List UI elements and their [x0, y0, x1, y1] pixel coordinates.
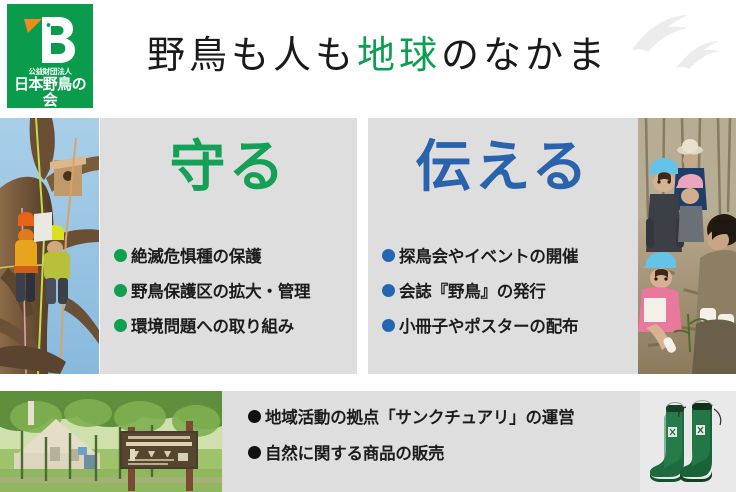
title-accent-earth: 地球: [357, 24, 441, 79]
tree-climbers-nest-box-photo: [0, 118, 99, 374]
sanctuary-nature-center-photo: [0, 391, 222, 492]
list-item-label: 探鳥会やイベントの開催: [399, 243, 578, 267]
bullet-dot-icon: [248, 446, 261, 459]
bullet-dot-icon: [382, 284, 395, 297]
panel-communicate-heading: 伝える: [368, 140, 638, 196]
bottom-section: 地域活動の拠点「サンクチュアリ」の運営 自然に関する商品の販売: [0, 391, 736, 492]
title-segment-2: のなかま: [441, 24, 609, 79]
list-item: 自然に関する商品の販売: [248, 440, 648, 464]
list-item-label: 地域活動の拠点「サンクチュアリ」の運営: [265, 404, 574, 428]
bullet-dot-icon: [248, 410, 261, 423]
activities-section: 守る 絶滅危惧種の保護 野鳥保護区の拡大・管理 環境問題への取り組み 伝える: [0, 118, 736, 374]
bullet-dot-icon: [114, 284, 127, 297]
list-item-label: 絶滅危惧種の保護: [131, 243, 261, 267]
poster-root: 公益財団法人 日本野鳥の会 Wild Bird Society of Japan…: [0, 0, 736, 492]
list-item: 野鳥保護区の拡大・管理: [114, 278, 351, 302]
swallow-silhouettes-icon: [630, 4, 730, 70]
list-item-label: 環境問題への取り組み: [131, 313, 294, 337]
page-title: 野鳥も人も地球のなかま: [128, 22, 628, 80]
bird-b-logo-icon: [20, 13, 80, 65]
list-item: 会誌『野鳥』の発行: [382, 278, 632, 302]
logo-line-corporate: 公益財団法人: [7, 68, 93, 76]
list-item: 地域活動の拠点「サンクチュアリ」の運営: [248, 404, 648, 428]
bullet-dot-icon: [114, 319, 127, 332]
title-segment-1: 野鳥も人も: [147, 24, 357, 79]
list-item: 絶滅危惧種の保護: [114, 243, 351, 267]
list-item-label: 自然に関する商品の販売: [265, 440, 444, 464]
header: 公益財団法人 日本野鳥の会 Wild Bird Society of Japan…: [0, 0, 736, 118]
bullet-dot-icon: [382, 249, 395, 262]
logo-line-name-en: Wild Bird Society of Japan: [7, 111, 93, 117]
list-item-label: 会誌『野鳥』の発行: [399, 278, 546, 302]
children-tree-planting-photo: [638, 118, 736, 374]
list-item: 小冊子やポスターの配布: [382, 313, 632, 337]
logo-line-name-ja: 日本野鳥の会: [7, 77, 93, 109]
list-item: 環境問題への取り組み: [114, 313, 351, 337]
list-item: 探鳥会やイベントの開催: [382, 243, 632, 267]
list-item-label: 野鳥保護区の拡大・管理: [131, 278, 310, 302]
list-item-label: 小冊子やポスターの配布: [399, 313, 578, 337]
green-rubber-boots-photo: [640, 391, 736, 492]
panel-protect-bullets: 絶滅危惧種の保護 野鳥保護区の拡大・管理 環境問題への取り組み: [114, 243, 351, 348]
panel-communicate-bullets: 探鳥会やイベントの開催 会誌『野鳥』の発行 小冊子やポスターの配布: [382, 243, 632, 348]
bullet-dot-icon: [382, 319, 395, 332]
panel-communicate: 伝える 探鳥会やイベントの開催 会誌『野鳥』の発行 小冊子やポスターの配布: [368, 118, 638, 374]
panel-protect-heading: 守る: [100, 140, 357, 196]
logo-text-block: 公益財団法人 日本野鳥の会 Wild Bird Society of Japan: [7, 68, 93, 118]
organization-logo[interactable]: 公益財団法人 日本野鳥の会 Wild Bird Society of Japan: [7, 4, 93, 108]
panel-protect: 守る 絶滅危惧種の保護 野鳥保護区の拡大・管理 環境問題への取り組み: [100, 118, 357, 374]
bottom-bullets: 地域活動の拠点「サンクチュアリ」の運営 自然に関する商品の販売: [248, 404, 648, 476]
bullet-dot-icon: [114, 249, 127, 262]
